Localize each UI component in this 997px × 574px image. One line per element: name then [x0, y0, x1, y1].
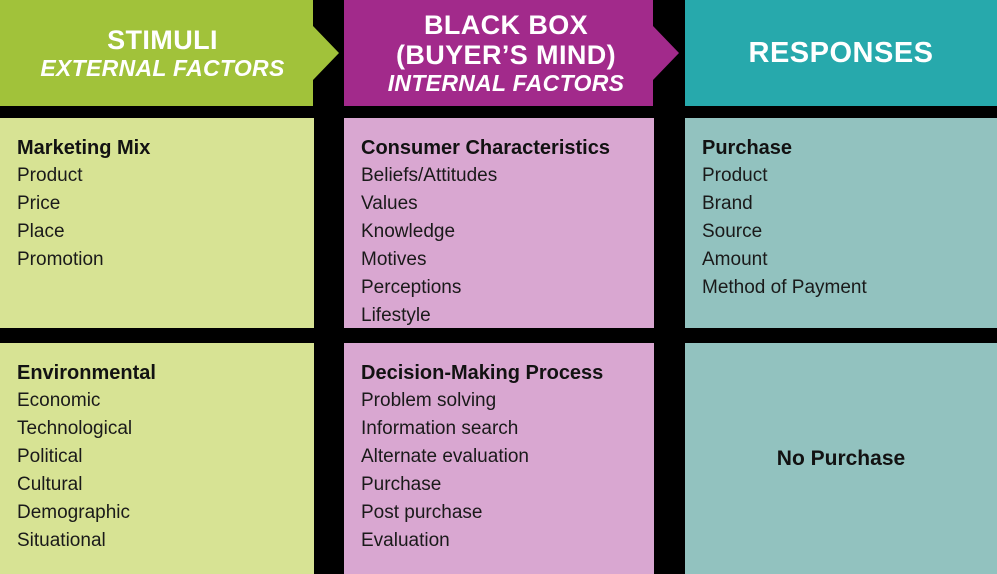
list-item: Values — [361, 190, 654, 218]
header-responses-title: RESPONSES — [749, 37, 934, 70]
list-item: Alternate evaluation — [361, 443, 654, 471]
list-item: Information search — [361, 415, 654, 443]
list-item: Product — [17, 162, 314, 190]
list-item: Economic — [17, 387, 314, 415]
panel-environmental-title: Environmental — [17, 359, 314, 387]
header-band: STIMULI EXTERNAL FACTORS BLACK BOX (BUYE… — [0, 0, 997, 106]
list-item: Place — [17, 218, 314, 246]
header-stimuli-subtitle: EXTERNAL FACTORS — [40, 55, 284, 81]
header-black-box-subtitle: INTERNAL FACTORS — [388, 70, 625, 96]
header-black-box-arrow: BLACK BOX (BUYER’S MIND) INTERNAL FACTOR… — [344, 0, 679, 106]
panel-marketing-mix-title: Marketing Mix — [17, 134, 314, 162]
list-item: Technological — [17, 415, 314, 443]
header-responses: RESPONSES — [685, 0, 997, 106]
list-item: Cultural — [17, 471, 314, 499]
panel-marketing-mix: Marketing Mix Product Price Place Promot… — [0, 118, 314, 328]
header-black-box-title-line1: BLACK BOX — [424, 10, 588, 40]
list-item: Lifestyle — [361, 302, 654, 330]
list-item: Method of Payment — [702, 274, 997, 302]
list-item: Source — [702, 218, 997, 246]
list-item: Product — [702, 162, 997, 190]
list-item: Evaluation — [361, 527, 654, 555]
header-black-box-title-line2: (BUYER’S MIND) — [396, 40, 616, 70]
panel-no-purchase-label: No Purchase — [777, 447, 905, 471]
list-item: Purchase — [361, 471, 654, 499]
list-item: Demographic — [17, 499, 314, 527]
list-item: Problem solving — [361, 387, 654, 415]
panel-consumer-characteristics: Consumer Characteristics Beliefs/Attitud… — [344, 118, 654, 328]
list-item: Price — [17, 190, 314, 218]
list-item: Beliefs/Attitudes — [361, 162, 654, 190]
header-stimuli-arrow: STIMULI EXTERNAL FACTORS — [0, 0, 339, 106]
list-item: Knowledge — [361, 218, 654, 246]
panel-purchase-title: Purchase — [702, 134, 997, 162]
header-stimuli-title: STIMULI — [107, 25, 218, 55]
panel-purchase: Purchase Product Brand Source Amount Met… — [685, 118, 997, 328]
list-item: Promotion — [17, 246, 314, 274]
list-item: Situational — [17, 527, 314, 555]
panel-environmental: Environmental Economic Technological Pol… — [0, 343, 314, 574]
list-item: Motives — [361, 246, 654, 274]
list-item: Amount — [702, 246, 997, 274]
list-item: Post purchase — [361, 499, 654, 527]
list-item: Perceptions — [361, 274, 654, 302]
panel-decision-making-process: Decision-Making Process Problem solving … — [344, 343, 654, 574]
panel-no-purchase: No Purchase — [685, 343, 997, 574]
list-item: Political — [17, 443, 314, 471]
panel-decision-making-process-title: Decision-Making Process — [361, 359, 654, 387]
black-box-model-diagram: STIMULI EXTERNAL FACTORS BLACK BOX (BUYE… — [0, 0, 997, 574]
panel-consumer-characteristics-title: Consumer Characteristics — [361, 134, 654, 162]
list-item: Brand — [702, 190, 997, 218]
